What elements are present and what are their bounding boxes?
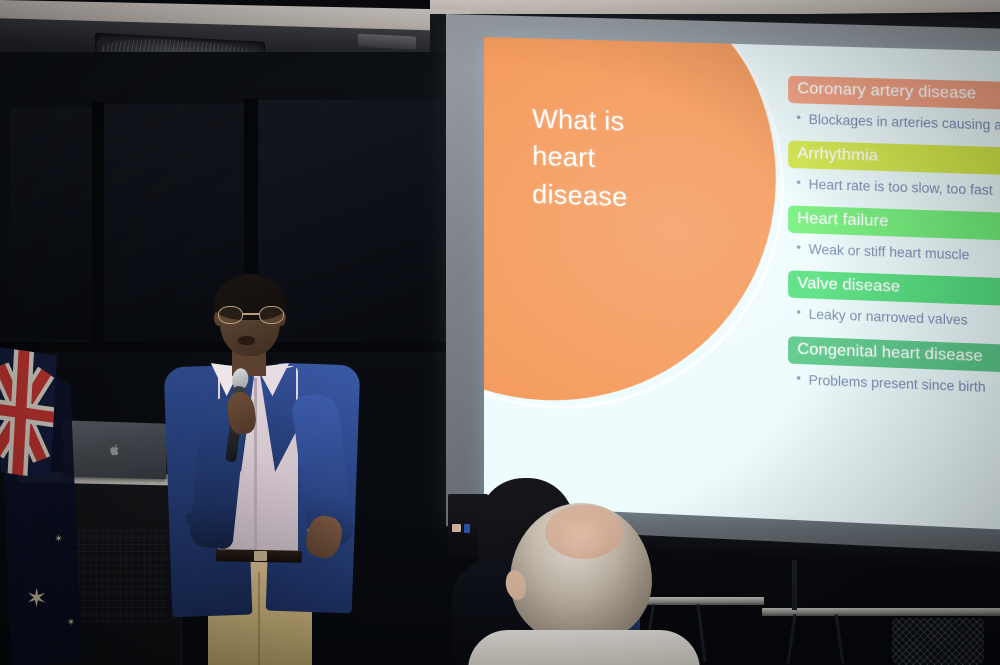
presenter-trouser-crease	[258, 572, 260, 665]
slide-title-line-2: heart	[532, 138, 735, 182]
slide-title: What is heart disease	[532, 101, 735, 220]
presenter	[150, 262, 380, 665]
category-bullet: Problems present since birth	[788, 363, 1000, 409]
presentation-slide: What is heart disease Coronary artery di…	[484, 37, 1000, 531]
slide-category-arrhythmia: Arrhythmia Heart rate is too slow, too f…	[788, 141, 1000, 212]
slide-category-heart-failure: Heart failure Weak or stiff heart muscle	[788, 206, 1000, 278]
mesh-chair	[892, 618, 984, 665]
slide-category-list: Coronary artery disease Blockages in art…	[788, 76, 1000, 412]
window-pane-1	[10, 108, 92, 340]
presenter-shirt-placket	[254, 378, 257, 550]
apple-icon	[110, 443, 121, 456]
southern-cross-star-icon: ✶	[54, 535, 63, 545]
av-indicator-blue	[464, 524, 470, 533]
southern-cross-star-icon: ✶	[67, 618, 76, 628]
eyeglasses-icon	[218, 306, 284, 324]
air-vent-small-icon	[358, 34, 416, 50]
audience-member-scalp	[545, 505, 623, 559]
projection-screen: What is heart disease Coronary artery di…	[446, 14, 1000, 553]
category-bullet: Weak or stiff heart muscle	[788, 233, 1000, 277]
slide-orange-arc	[484, 37, 784, 418]
table-support-post	[792, 560, 797, 610]
photo-scene: What is heart disease Coronary artery di…	[0, 0, 1000, 665]
av-indicator-amber	[452, 524, 461, 532]
category-bullet: Heart rate is too slow, too fast	[788, 168, 1000, 211]
union-jack-icon	[0, 346, 57, 479]
slide-category-valve: Valve disease Leaky or narrowed valves	[788, 271, 1000, 343]
slide-title-line-3: disease	[532, 175, 735, 219]
slide-category-congenital: Congenital heart disease Problems presen…	[788, 336, 1000, 409]
presenter-mouth	[238, 336, 255, 345]
window-mullion-1	[92, 102, 104, 347]
presenter-belt-buckle	[254, 551, 267, 561]
category-bullet: Blockages in arteries causing angina	[788, 103, 1000, 146]
audience-member-gray-shirt	[468, 630, 700, 665]
slide-category-coronary: Coronary artery disease Blockages in art…	[788, 76, 1000, 146]
commonwealth-star-icon: ✶	[23, 585, 49, 611]
slide-title-line-1: What is	[532, 101, 735, 145]
conference-table-back	[762, 608, 1000, 616]
